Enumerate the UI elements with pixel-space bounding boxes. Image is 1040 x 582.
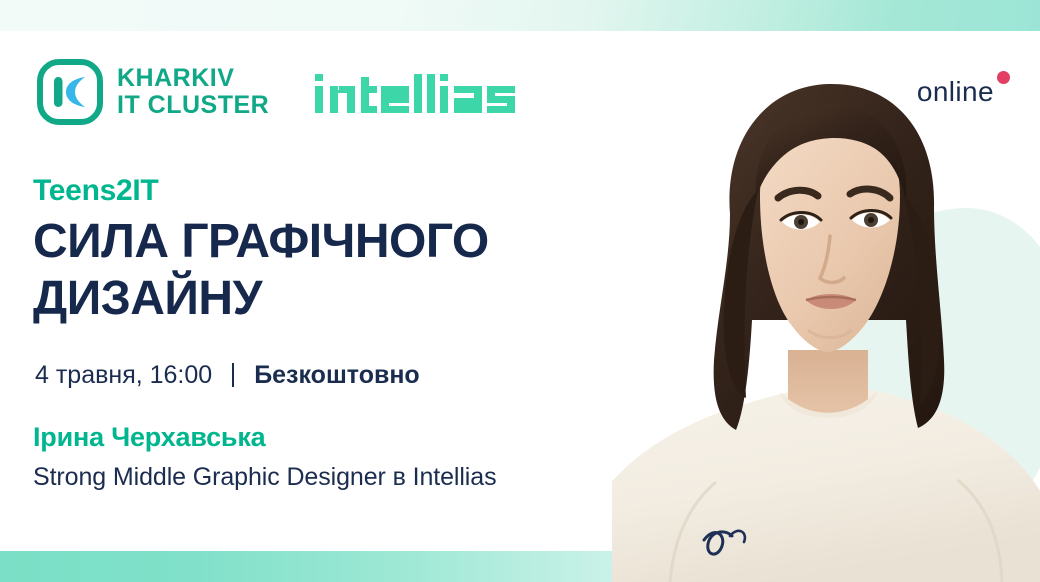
event-announcement-banner: KHARKIV IT CLUSTER [0,0,1040,582]
kharkiv-line-1: KHARKIV [117,65,269,92]
kharkiv-it-cluster-logo-icon [36,58,104,126]
meta-divider [232,363,234,387]
headline-line-1: СИЛА ГРАФІЧНОГО [33,213,633,270]
intellias-wordmark-icon [315,68,520,116]
kharkiv-line-2: IT CLUSTER [117,92,269,119]
online-dot-icon [997,71,1010,84]
event-meta: 4 травня, 16:00 Безкоштовно [35,361,420,389]
page-title: СИЛА ГРАФІЧНОГО ДИЗАЙНУ [33,213,633,327]
speaker-name: Ірина Черхавська [33,422,265,453]
event-date: 4 травня, 16:00 [35,361,212,389]
headline-line-2: ДИЗАЙНУ [33,270,633,327]
program-eyebrow: Teens2IT [33,174,158,208]
logo-row: KHARKIV IT CLUSTER [36,58,520,126]
online-badge: online [917,78,1010,106]
online-label: online [917,78,994,106]
kharkiv-it-cluster-wordmark: KHARKIV IT CLUSTER [117,65,269,119]
event-price: Безкоштовно [254,361,420,389]
speaker-role: Strong Middle Graphic Designer в Intelli… [33,463,496,492]
